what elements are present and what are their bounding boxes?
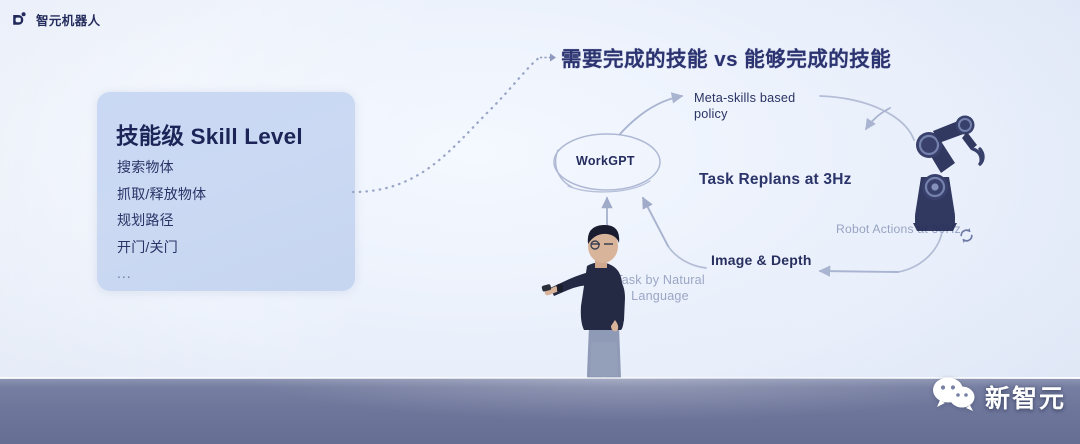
robot-arm-icon xyxy=(885,105,990,240)
channel-watermark: 新智元 xyxy=(931,377,1066,416)
wechat-icon xyxy=(931,377,977,416)
watermark-text: 新智元 xyxy=(985,379,1066,415)
label-task-replans: Task Replans at 3Hz xyxy=(699,171,852,189)
label-image-depth: Image & Depth xyxy=(711,251,812,269)
screenshot-stage: 智元机器人 技能级 Skill Level 搜索物体 抓取/释放物体 规划路径 … xyxy=(0,0,1080,444)
stage-floor-gloss xyxy=(0,378,1080,444)
refresh-cycle-icon xyxy=(957,226,976,250)
label-meta-skills-policy: Meta-skills based policy xyxy=(694,90,814,122)
node-workgpt-label: WorkGPT xyxy=(576,154,635,168)
